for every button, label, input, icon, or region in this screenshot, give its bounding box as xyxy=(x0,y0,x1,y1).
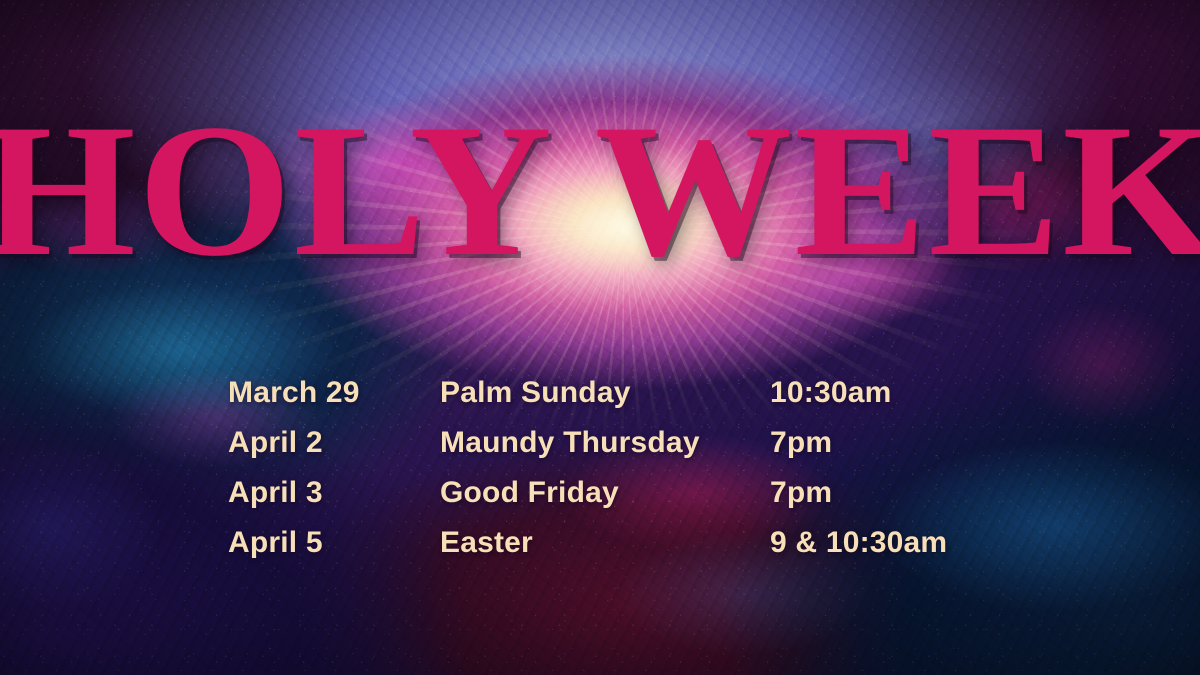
schedule-event: Good Friday xyxy=(440,468,770,518)
schedule-date: April 5 xyxy=(228,518,440,568)
page-title: HOLY WEEK xyxy=(0,96,1200,286)
schedule-date: April 2 xyxy=(228,418,440,468)
schedule-event: Palm Sunday xyxy=(440,368,770,418)
schedule-date: March 29 xyxy=(228,368,440,418)
schedule-event: Maundy Thursday xyxy=(440,418,770,468)
schedule-time: 10:30am xyxy=(770,368,947,418)
schedule-event: Easter xyxy=(440,518,770,568)
holy-week-poster: HOLY WEEK March 29 Palm Sunday 10:30am A… xyxy=(0,0,1200,675)
schedule-time: 7pm xyxy=(770,468,947,518)
schedule-date: April 3 xyxy=(228,468,440,518)
service-schedule: March 29 Palm Sunday 10:30am April 2 Mau… xyxy=(228,368,947,568)
schedule-time: 7pm xyxy=(770,418,947,468)
schedule-time: 9 & 10:30am xyxy=(770,518,947,568)
